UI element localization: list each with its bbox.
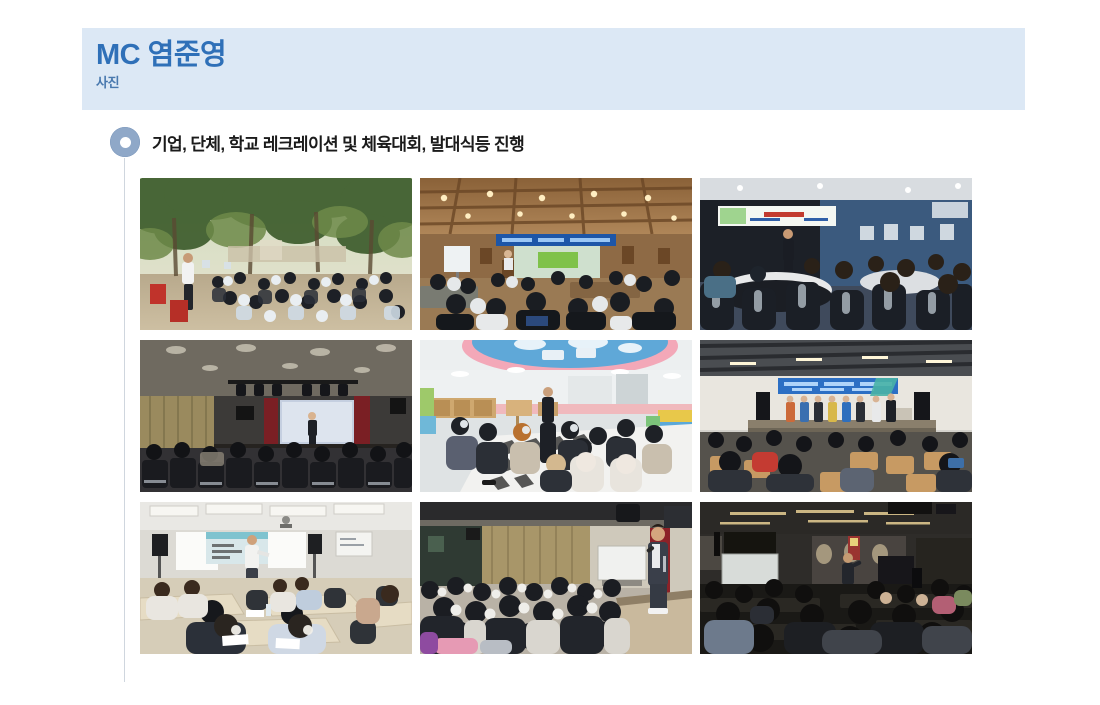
gallery-photo-2[interactable] (420, 178, 692, 330)
timeline-connector-line (124, 158, 125, 682)
page-subtitle: 사진 (96, 75, 226, 91)
red-box (150, 284, 166, 304)
presenter-figure (783, 229, 794, 278)
dark-seminar-room-image (700, 502, 972, 654)
banquet-hall-image (700, 178, 972, 330)
section-heading-label: 기업, 단체, 학교 레크레이션 및 체육대회, 발대식등 진행 (152, 130, 524, 155)
page-header-band: MC 염준영 사진 (82, 28, 1025, 110)
outdoor-park-image (140, 178, 412, 330)
stage-curtain-right (354, 396, 370, 446)
gallery-photo-7[interactable] (140, 502, 412, 654)
header-text-group: MC 염준영 사진 (96, 40, 226, 91)
wood-hall-image (420, 178, 692, 330)
gallery-photo-8[interactable] (420, 502, 692, 654)
stage-curtain-left (264, 398, 278, 446)
gallery-photo-9[interactable] (700, 502, 972, 654)
gallery-photo-5[interactable] (420, 340, 692, 492)
gallery-photo-4[interactable] (140, 340, 412, 492)
gallery-photo-6[interactable] (700, 340, 972, 492)
performer-figure (308, 412, 317, 447)
page-title: MC 염준영 (96, 40, 226, 71)
mc-on-stage-image (420, 502, 692, 654)
donut-bullet-icon (110, 127, 140, 157)
gallery-photo-1[interactable] (140, 178, 412, 330)
training-room-image (140, 502, 412, 654)
auditorium-stage-image (140, 340, 412, 492)
kindergarten-room-image (420, 340, 692, 492)
tiered-auditorium-image (700, 340, 972, 492)
photo-gallery-grid (140, 178, 972, 654)
section-heading-row: 기업, 단체, 학교 레크레이션 및 체육대회, 발대식등 진행 (110, 127, 524, 157)
gallery-photo-3[interactable] (700, 178, 972, 330)
